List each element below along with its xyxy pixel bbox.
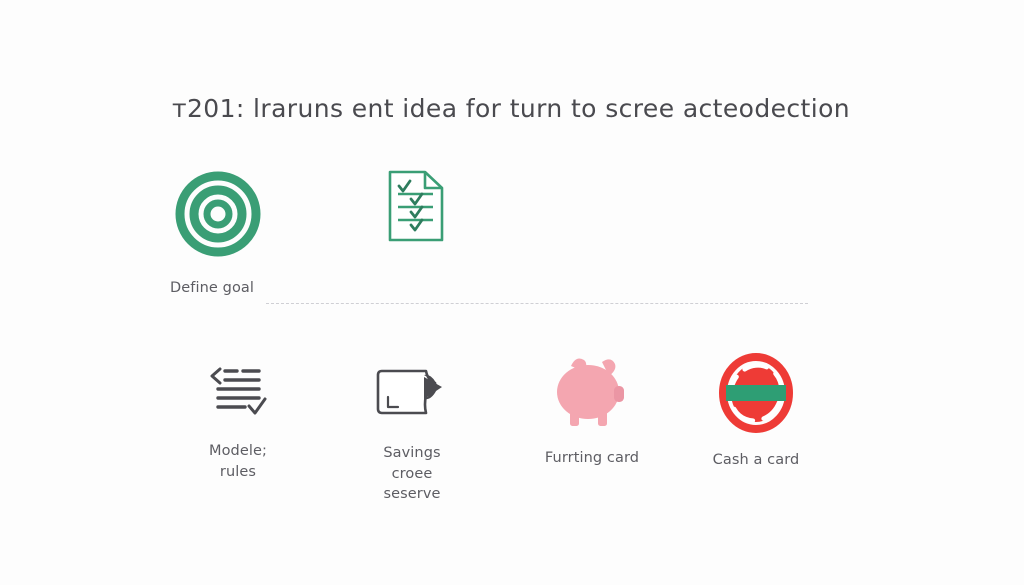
target-icon: [172, 168, 264, 260]
slide-title: т201: lraruns ent idea for turn to scree…: [172, 94, 932, 123]
item-funding-card[interactable]: Furrting card: [544, 352, 640, 469]
item-savings[interactable]: Savings croee seserve: [364, 363, 460, 505]
no-cash-prohibited-icon: [714, 352, 798, 434]
item-models-rules-label: Modele; rules: [190, 441, 286, 482]
checklist-document-icon: [385, 168, 447, 244]
wallet-arrow-icon: [374, 363, 450, 421]
item-cash-card-label: Cash a card: [713, 450, 800, 471]
item-savings-label: Savings croee seserve: [364, 443, 460, 505]
item-checklist[interactable]: [368, 168, 464, 254]
slide-canvas: т201: lraruns ent idea for turn to scree…: [0, 0, 1024, 585]
dashed-divider: [266, 303, 808, 304]
list-rules-check-icon: [207, 363, 269, 419]
item-define-goal-label: Define goal: [170, 278, 254, 299]
item-models-rules[interactable]: Modele; rules: [190, 363, 286, 482]
item-cash-card[interactable]: Cash a card: [708, 352, 804, 471]
item-funding-card-label: Furrting card: [545, 448, 639, 469]
item-define-goal[interactable]: Define goal: [166, 168, 270, 299]
piggy-bank-icon: [550, 352, 634, 432]
